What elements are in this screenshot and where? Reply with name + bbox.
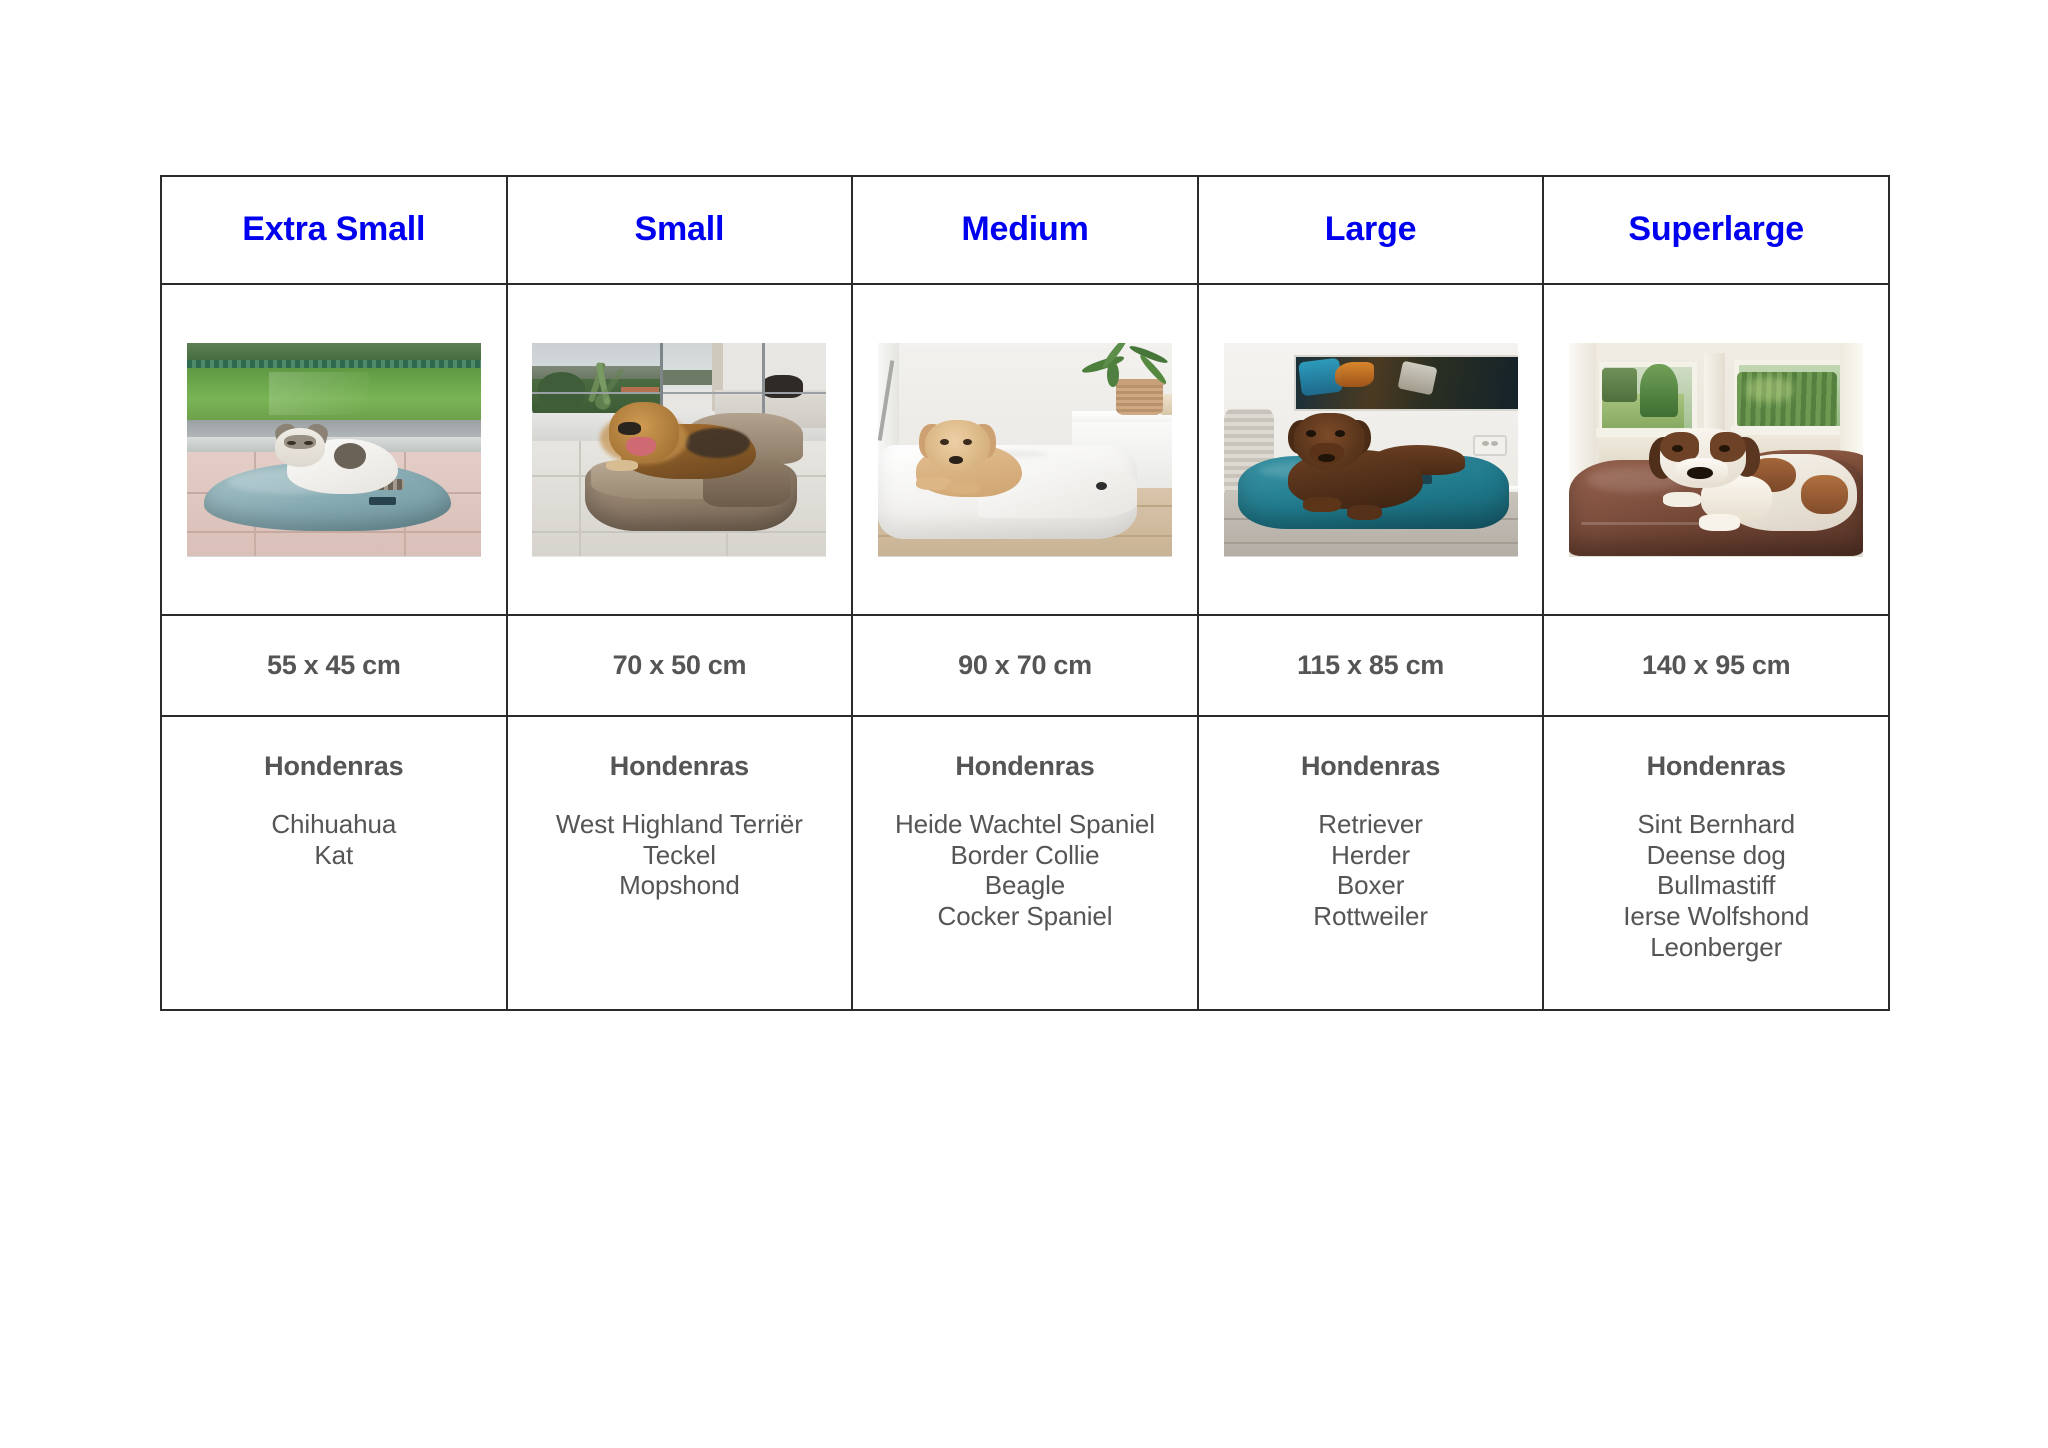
list-item: Cocker Spaniel [853,901,1197,932]
breeds-block: Hondenras West Highland Terriër Teckel M… [508,717,852,901]
list-item: Chihuahua [162,809,506,840]
list-item: Ierse Wolfshond [1544,901,1888,932]
breeds-title: Hondenras [162,751,506,782]
list-item: Heide Wachtel Spaniel [853,809,1197,840]
dimensions-label: 115 x 85 cm [1199,650,1543,681]
chocolate-labrador-on-teal-bed-photo [1224,343,1518,557]
breeds-cell-medium: Hondenras Heide Wachtel Spaniel Border C… [852,716,1198,1010]
photo-cell-superlarge [1543,284,1889,615]
breeds-list: Retriever Herder Boxer Rottweiler [1199,809,1543,932]
product-photo-medium [878,343,1172,557]
photo-cell-extra-small [161,284,507,615]
list-item: Leonberger [1544,932,1888,963]
list-item: Mopshond [508,870,852,901]
saint-bernard-on-brown-bed-photo [1569,343,1863,557]
dimensions-cell-large: 115 x 85 cm [1198,615,1544,716]
breeds-list: Heide Wachtel Spaniel Border Collie Beag… [853,809,1197,932]
list-item: Boxer [1199,870,1543,901]
product-photo-superlarge [1569,343,1863,557]
dimensions-label: 90 x 70 cm [853,650,1197,681]
dimensions-cell-small: 70 x 50 cm [507,615,853,716]
dimensions-cell-medium: 90 x 70 cm [852,615,1198,716]
list-item: Rottweiler [1199,901,1543,932]
breeds-list: Chihuahua Kat [162,809,506,870]
breeds-row: Hondenras Chihuahua Kat Hondenras West H… [161,716,1889,1010]
list-item: Beagle [853,870,1197,901]
size-name-row: Extra Small Small Medium Large Superlarg… [161,176,1889,284]
photo-cell-large [1198,284,1544,615]
breeds-block: Hondenras Heide Wachtel Spaniel Border C… [853,717,1197,932]
breeds-list: West Highland Terriër Teckel Mopshond [508,809,852,901]
size-name-cell-small: Small [507,176,853,284]
photo-cell-small [507,284,853,615]
breeds-cell-small: Hondenras West Highland Terriër Teckel M… [507,716,853,1010]
dimensions-row: 55 x 45 cm 70 x 50 cm 90 x 70 cm 115 x 8… [161,615,1889,716]
size-name-cell-superlarge: Superlarge [1543,176,1889,284]
dimensions-label: 70 x 50 cm [508,650,852,681]
breeds-cell-large: Hondenras Retriever Herder Boxer Rottwei… [1198,716,1544,1010]
dimensions-cell-extra-small: 55 x 45 cm [161,615,507,716]
size-chart-page: Extra Small Small Medium Large Superlarg… [0,0,2048,1448]
breeds-block: Hondenras Retriever Herder Boxer Rottwei… [1199,717,1543,932]
terrier-on-brown-sofa-bed-photo [532,343,826,557]
cockapoo-on-white-bed-photo [878,343,1172,557]
breeds-title: Hondenras [1544,751,1888,782]
breeds-title: Hondenras [508,751,852,782]
dog-bed-size-table: Extra Small Small Medium Large Superlarg… [160,175,1890,1011]
list-item: Border Collie [853,840,1197,871]
breeds-cell-extra-small: Hondenras Chihuahua Kat [161,716,507,1010]
list-item: Herder [1199,840,1543,871]
dimensions-label: 55 x 45 cm [162,650,506,681]
photo-cell-medium [852,284,1198,615]
cat-on-light-blue-bed-photo [187,343,481,557]
product-photo-row [161,284,1889,615]
size-name-label: Small [508,211,852,248]
breeds-cell-superlarge: Hondenras Sint Bernhard Deense dog Bullm… [1543,716,1889,1010]
breeds-title: Hondenras [853,751,1197,782]
list-item: Sint Bernhard [1544,809,1888,840]
size-name-label: Extra Small [162,211,506,248]
breeds-list: Sint Bernhard Deense dog Bullmastiff Ier… [1544,809,1888,962]
list-item: Kat [162,840,506,871]
list-item: Deense dog [1544,840,1888,871]
product-photo-extra-small [187,343,481,557]
product-photo-large [1224,343,1518,557]
product-photo-small [532,343,826,557]
size-name-cell-large: Large [1198,176,1544,284]
list-item: Retriever [1199,809,1543,840]
size-name-label: Large [1199,211,1543,248]
breeds-block: Hondenras Sint Bernhard Deense dog Bullm… [1544,717,1888,962]
size-name-cell-extra-small: Extra Small [161,176,507,284]
breeds-title: Hondenras [1199,751,1543,782]
dimensions-label: 140 x 95 cm [1544,650,1888,681]
list-item: Bullmastiff [1544,870,1888,901]
breeds-block: Hondenras Chihuahua Kat [162,717,506,870]
list-item: West Highland Terriër [508,809,852,840]
list-item: Teckel [508,840,852,871]
size-name-cell-medium: Medium [852,176,1198,284]
dimensions-cell-superlarge: 140 x 95 cm [1543,615,1889,716]
size-name-label: Medium [853,211,1197,248]
size-name-label: Superlarge [1544,211,1888,248]
